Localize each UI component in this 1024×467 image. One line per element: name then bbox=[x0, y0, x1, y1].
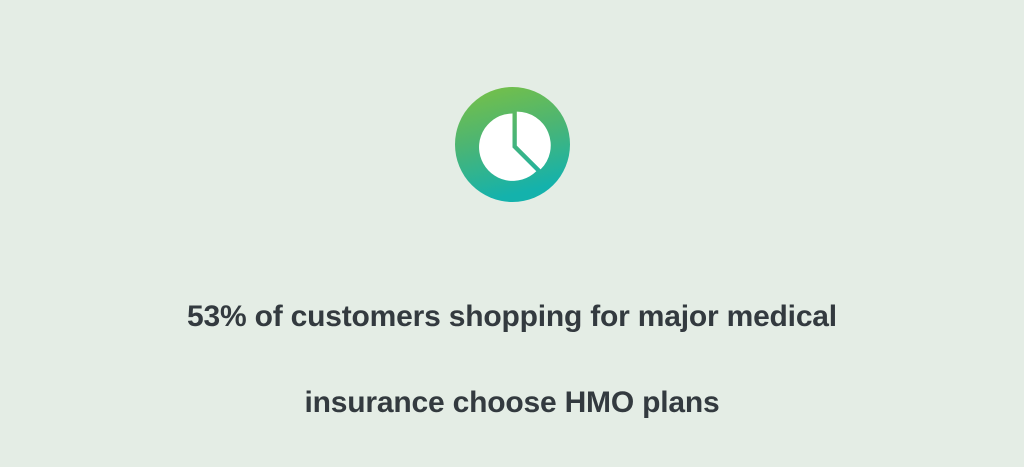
page-title: 53% of customers shopping for major medi… bbox=[0, 252, 1024, 467]
pie-chart-icon bbox=[455, 87, 570, 202]
pie-chart-icon-svg bbox=[455, 87, 570, 202]
headline-line-2: insurance choose HMO plans bbox=[0, 381, 1024, 424]
headline-line-1: 53% of customers shopping for major medi… bbox=[0, 295, 1024, 338]
stat-card: 53% of customers shopping for major medi… bbox=[0, 0, 1024, 410]
